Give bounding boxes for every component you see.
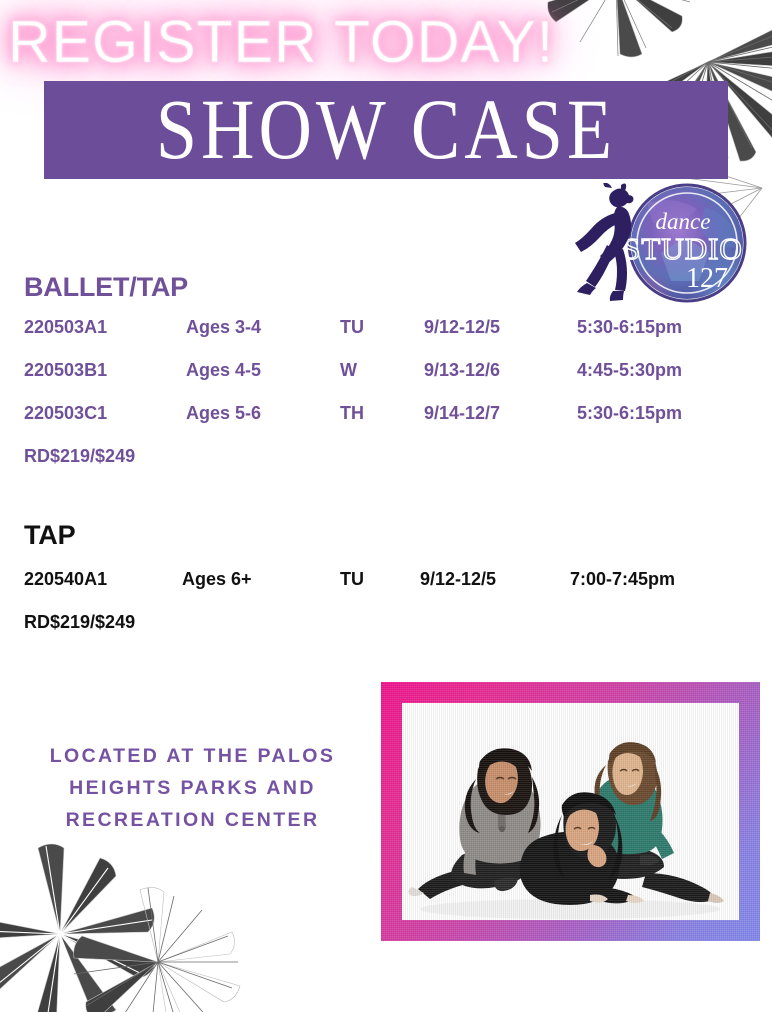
section-heading-tap: TAP [0, 520, 772, 551]
class-age: Ages 5-6 [186, 403, 261, 424]
class-age: Ages 3-4 [186, 317, 261, 338]
class-day: TU [340, 569, 364, 590]
price-label: RD$219/$249 [0, 446, 135, 466]
price-label: RD$219/$249 [0, 612, 135, 632]
flyer-poster: REGISTER TODAY! SHOW CASE [0, 0, 772, 1012]
group-photo [402, 703, 739, 920]
class-rows-tap: 220540A1 Ages 6+ TU 9/12-12/5 7:00-7:45p… [0, 569, 772, 655]
class-dates: 9/14-12/7 [424, 403, 500, 424]
class-time: 7:00-7:45pm [570, 569, 675, 590]
three-dancers-photo-illustration [402, 703, 739, 920]
class-code: 220503B1 [24, 360, 107, 381]
class-day: TU [340, 317, 364, 338]
class-time: 5:30-6:15pm [577, 317, 682, 338]
flower-decoration-bottom-left [0, 822, 252, 1012]
table-row: 220540A1 Ages 6+ TU 9/12-12/5 7:00-7:45p… [0, 569, 772, 612]
class-time: 5:30-6:15pm [577, 403, 682, 424]
showcase-banner: SHOW CASE [44, 81, 728, 179]
photo-gradient-frame [381, 682, 760, 941]
table-row: 220503A1 Ages 3-4 TU 9/12-12/5 5:30-6:15… [0, 317, 772, 360]
class-dates: 9/12-12/5 [420, 569, 496, 590]
class-day: W [340, 360, 357, 381]
class-time: 4:45-5:30pm [577, 360, 682, 381]
table-row: 220503B1 Ages 4-5 W 9/13-12/6 4:45-5:30p… [0, 360, 772, 403]
neon-headline-container: REGISTER TODAY! [8, 4, 568, 80]
table-row: 220503C1 Ages 5-6 TH 9/14-12/7 5:30-6:15… [0, 403, 772, 446]
showcase-title: SHOW CASE [156, 87, 616, 173]
section-tap: TAP 220540A1 Ages 6+ TU 9/12-12/5 7:00-7… [0, 520, 772, 655]
class-age: Ages 6+ [182, 569, 252, 590]
price-row: RD$219/$249 [0, 446, 772, 489]
location-line-3: RECREATION CENTER [20, 804, 365, 836]
section-ballet-tap: BALLET/TAP 220503A1 Ages 3-4 TU 9/12-12/… [0, 272, 772, 489]
class-code: 220503A1 [24, 317, 107, 338]
class-age: Ages 4-5 [186, 360, 261, 381]
class-dates: 9/13-12/6 [424, 360, 500, 381]
logo-studio-word: STUDIO [623, 231, 743, 266]
section-heading-ballet-tap: BALLET/TAP [0, 272, 772, 303]
location-line-1: LOCATED AT THE PALOS [20, 740, 365, 772]
class-dates: 9/12-12/5 [424, 317, 500, 338]
class-code: 220503C1 [24, 403, 107, 424]
class-rows-ballet-tap: 220503A1 Ages 3-4 TU 9/12-12/5 5:30-6:15… [0, 317, 772, 489]
register-today-heading: REGISTER TODAY! [8, 4, 568, 80]
location-line-2: HEIGHTS PARKS AND [20, 772, 365, 804]
class-code: 220540A1 [24, 569, 107, 590]
location-block: LOCATED AT THE PALOS HEIGHTS PARKS AND R… [20, 740, 365, 836]
price-row: RD$219/$249 [0, 612, 772, 655]
class-day: TH [340, 403, 364, 424]
